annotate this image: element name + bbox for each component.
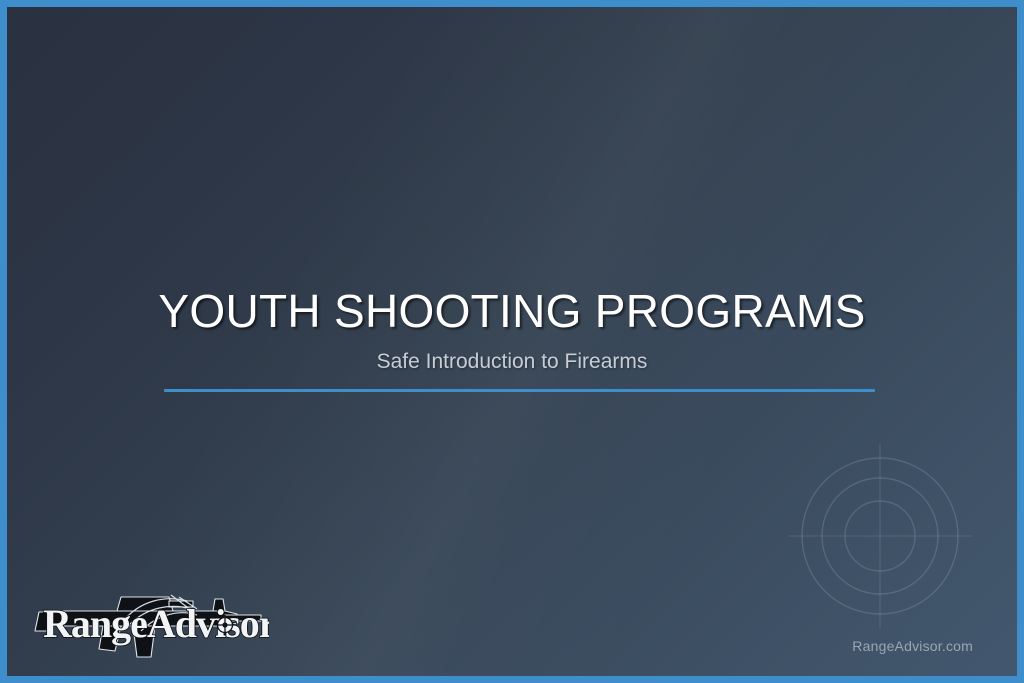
page-title: YOUTH SHOOTING PROGRAMS	[7, 287, 1017, 335]
footer-attribution: RangeAdvisor.com	[852, 638, 973, 654]
page-subtitle: Safe Introduction to Firearms	[7, 349, 1017, 374]
title-block: YOUTH SHOOTING PROGRAMS Safe Introductio…	[7, 287, 1017, 374]
title-accent-rule	[164, 389, 875, 392]
presentation-slide: YOUTH SHOOTING PROGRAMS Safe Introductio…	[0, 0, 1024, 683]
brand-logo: RangeAdvisor	[29, 575, 269, 667]
logo-wordmark: RangeAdvisor	[43, 601, 269, 646]
